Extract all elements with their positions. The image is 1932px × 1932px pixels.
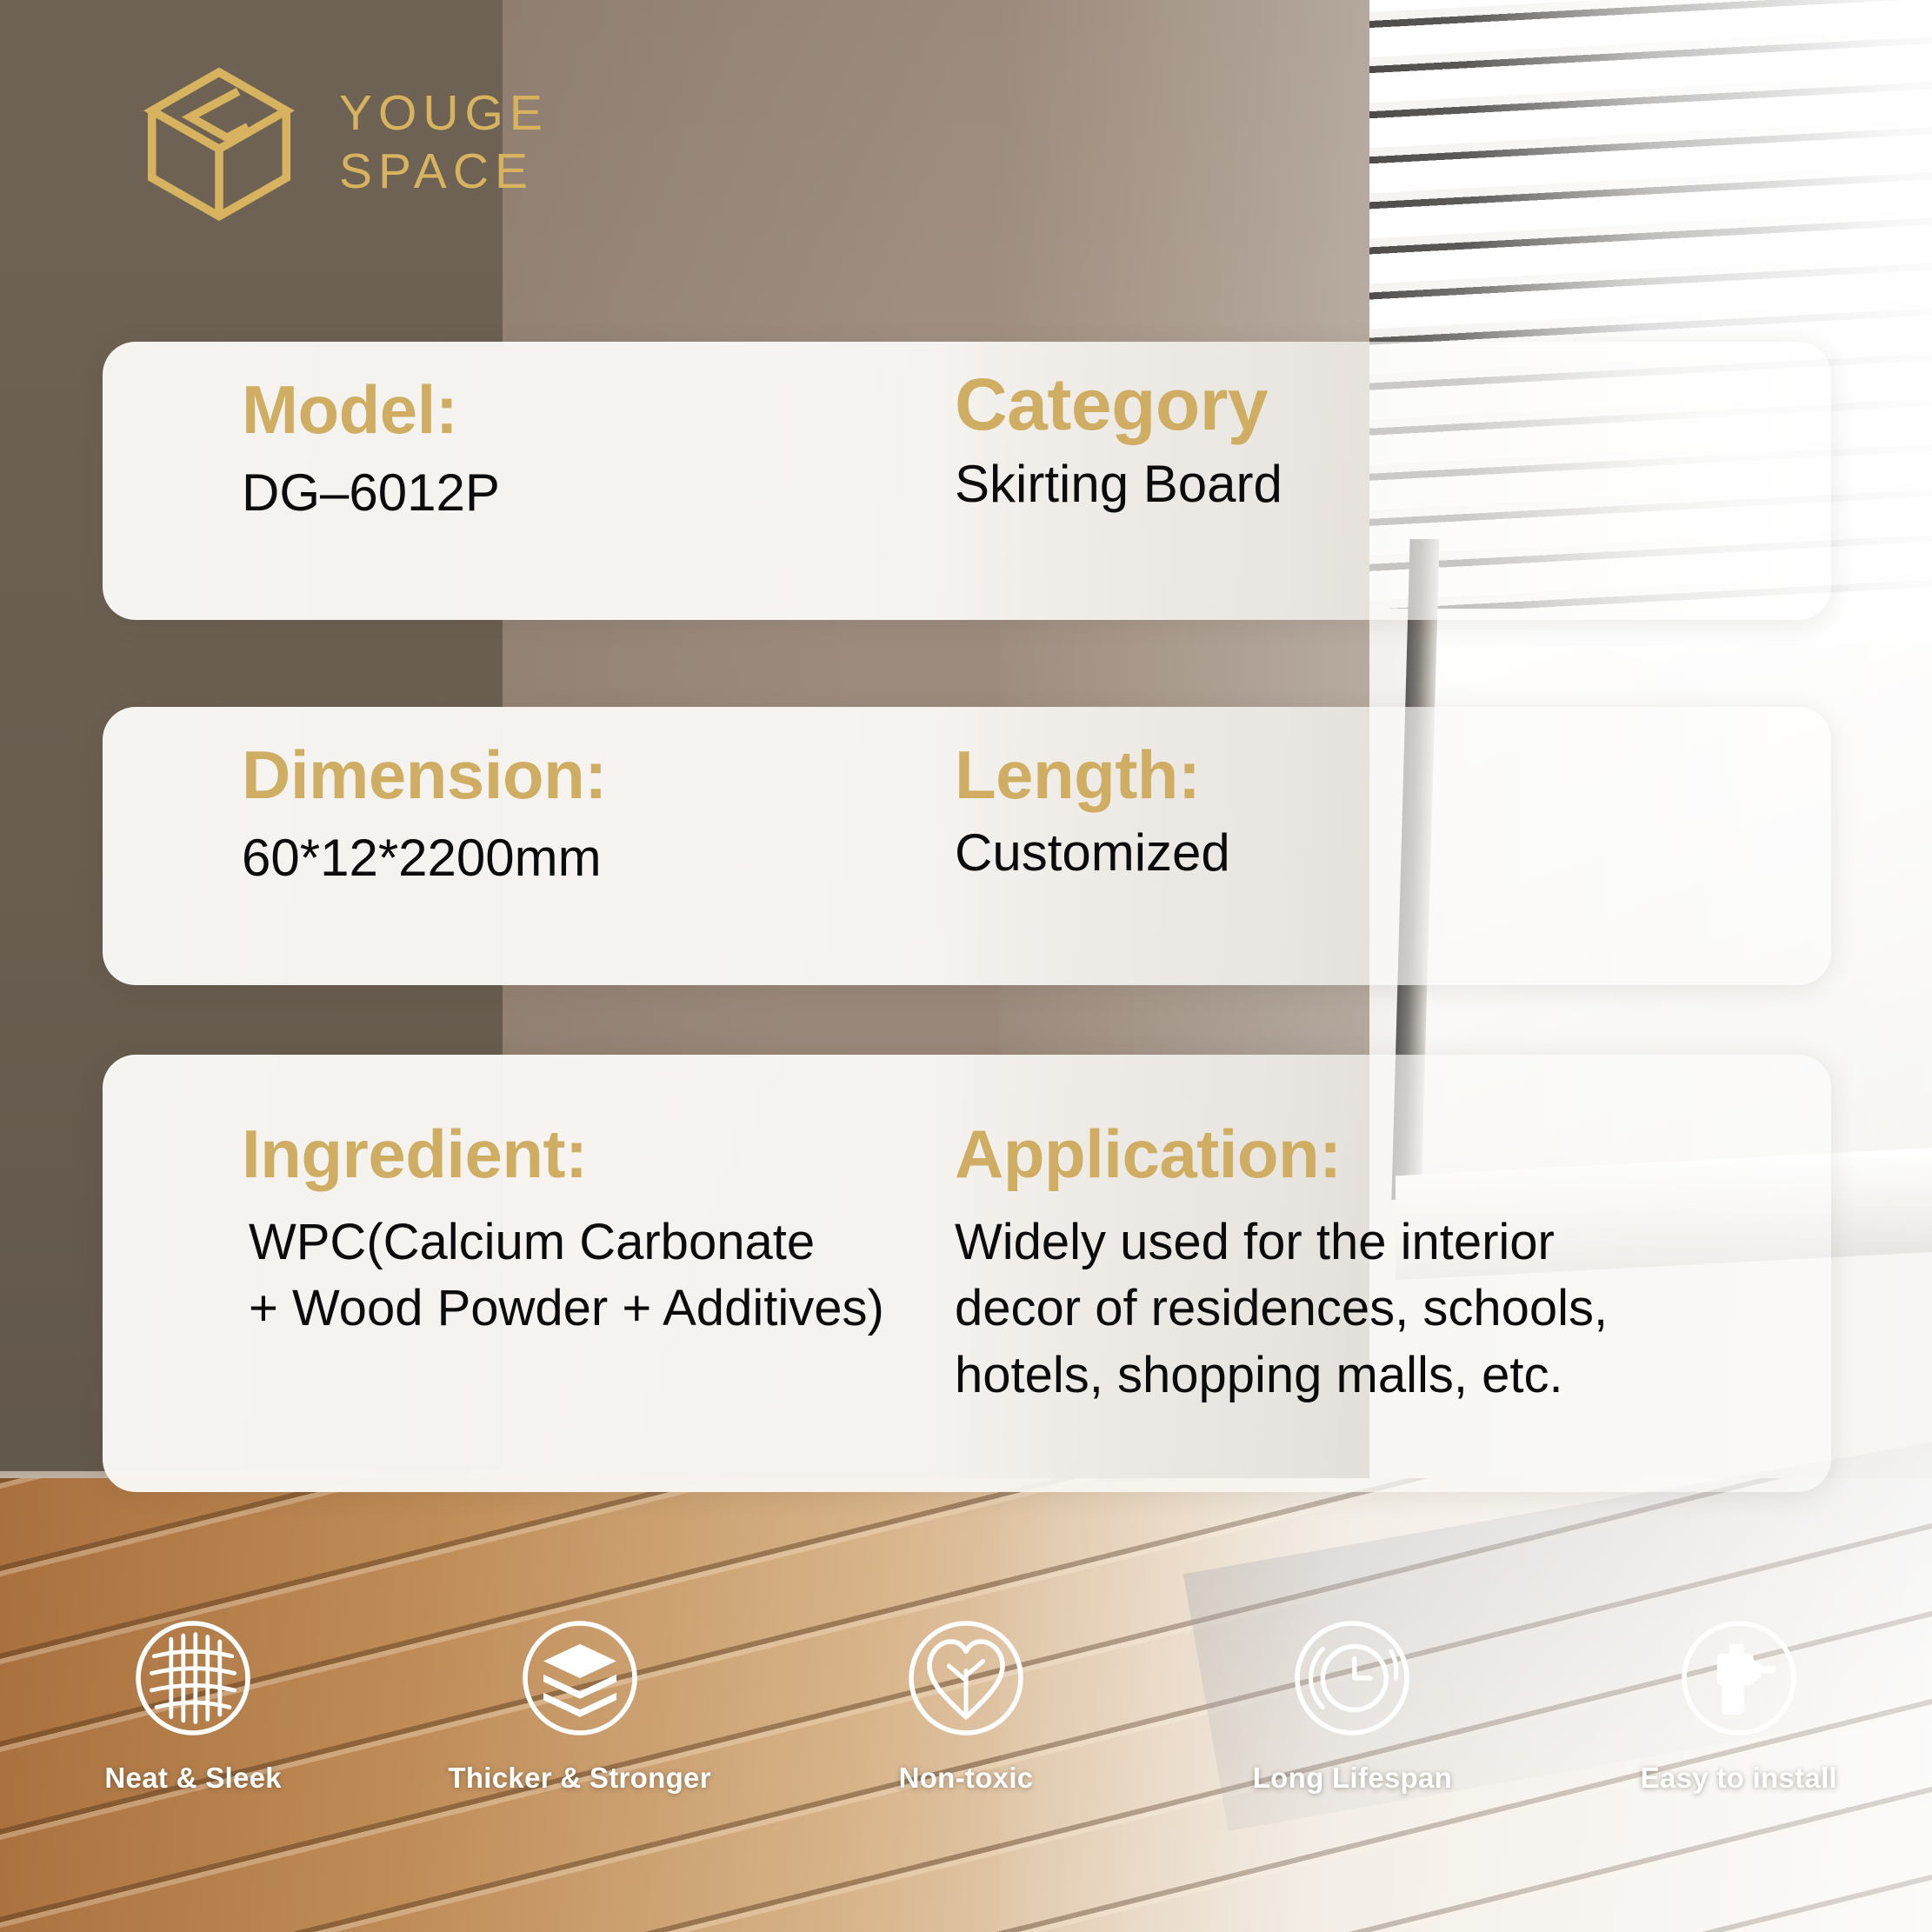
stacked-layers-icon bbox=[519, 1617, 641, 1739]
spec-field-dimension: Dimension: 60*12*2200mm bbox=[103, 707, 911, 985]
spec-field-length: Length: Customized bbox=[911, 707, 1831, 985]
feature-label: Thicker & Stronger bbox=[448, 1762, 710, 1795]
cube-box-logo-icon bbox=[139, 63, 299, 223]
product-spec-poster: YOUGE SPACE Model: DG–6012P Category Ski… bbox=[0, 0, 1932, 1932]
brand-logo: YOUGE SPACE bbox=[139, 63, 549, 223]
application-label: Application: bbox=[955, 1119, 1831, 1190]
model-value: DG–6012P bbox=[242, 460, 911, 525]
power-drill-icon bbox=[1678, 1617, 1800, 1739]
spec-field-application: Application: Widely used for the interio… bbox=[911, 1055, 1831, 1492]
category-value: Skirting Board bbox=[955, 451, 1831, 516]
heart-leaf-icon bbox=[905, 1617, 1027, 1739]
clock-icon bbox=[1291, 1617, 1413, 1739]
feature-non-toxic: Non-toxic bbox=[773, 1617, 1159, 1861]
feature-label: Neat & Sleek bbox=[104, 1762, 282, 1795]
dimension-value: 60*12*2200mm bbox=[242, 825, 911, 890]
feature-easy-to-install: Easy to install bbox=[1546, 1617, 1932, 1861]
category-label: Category bbox=[955, 366, 1831, 443]
application-value: Widely used for the interior decor of re… bbox=[955, 1209, 1831, 1409]
spec-card-model-category: Model: DG–6012P Category Skirting Board bbox=[103, 342, 1831, 620]
spec-card-dimension-length: Dimension: 60*12*2200mm Length: Customiz… bbox=[103, 707, 1831, 985]
model-label: Model: bbox=[242, 375, 911, 446]
spec-field-ingredient: Ingredient: WPC(Calcium Carbonate + Wood… bbox=[103, 1055, 911, 1492]
brand-name-line1: YOUGE bbox=[339, 84, 549, 143]
feature-strip: Neat & Sleek Thicker & Stronger bbox=[0, 1617, 1932, 1861]
feature-label: Long Lifespan bbox=[1253, 1762, 1452, 1795]
ingredient-label: Ingredient: bbox=[242, 1119, 911, 1190]
dimension-label: Dimension: bbox=[242, 740, 911, 811]
length-value: Customized bbox=[955, 820, 1831, 885]
feature-thicker-stronger: Thicker & Stronger bbox=[386, 1617, 772, 1861]
brand-name-line2: SPACE bbox=[339, 143, 549, 201]
feature-label: Easy to install bbox=[1641, 1762, 1837, 1795]
spec-card-ingredient-application: Ingredient: WPC(Calcium Carbonate + Wood… bbox=[103, 1055, 1831, 1492]
spec-field-category: Category Skirting Board bbox=[911, 342, 1831, 620]
feature-neat-sleek: Neat & Sleek bbox=[0, 1617, 386, 1861]
length-label: Length: bbox=[955, 740, 1831, 811]
feature-label: Non-toxic bbox=[899, 1762, 1034, 1795]
woven-mesh-icon bbox=[132, 1617, 254, 1739]
brand-name: YOUGE SPACE bbox=[339, 84, 549, 202]
feature-long-lifespan: Long Lifespan bbox=[1159, 1617, 1545, 1861]
spec-field-model: Model: DG–6012P bbox=[103, 342, 911, 620]
ingredient-value: WPC(Calcium Carbonate + Wood Powder + Ad… bbox=[242, 1209, 911, 1342]
